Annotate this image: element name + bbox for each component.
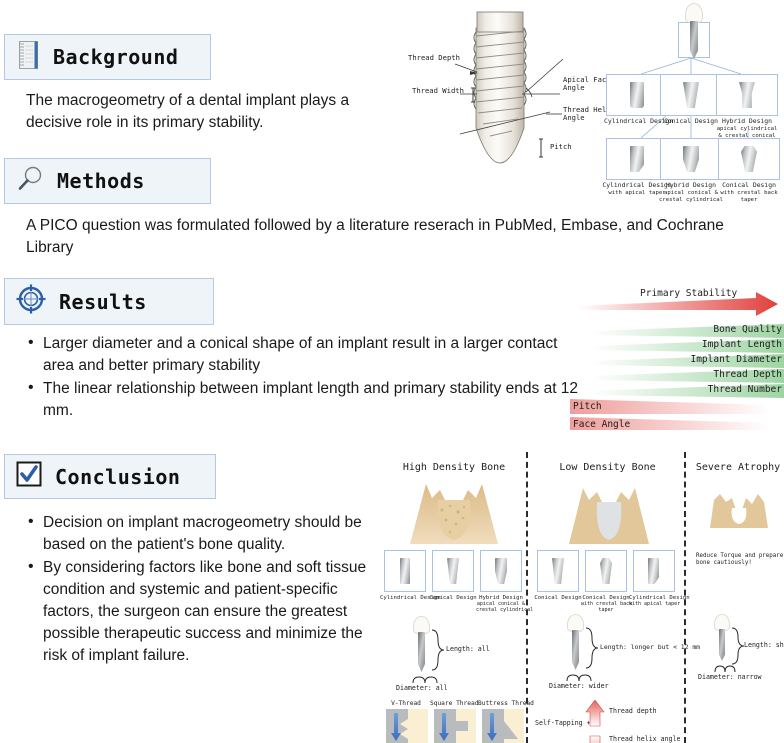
- section-body-background: The macrogeometry of a dental implant pl…: [26, 90, 404, 134]
- design-sublabel: with crestal back taper: [581, 602, 631, 614]
- section-body-results: Larger diameter and a conical shape of a…: [26, 333, 591, 423]
- bar-label: Implant Diameter: [690, 354, 782, 365]
- column-title: Low Density Bone: [535, 462, 680, 473]
- chart-bars-labels: Bone Quality Implant Length Implant Diam…: [570, 288, 784, 430]
- bar-label: Bone Quality: [713, 324, 782, 335]
- thread-type-label: Buttress Thread: [478, 700, 524, 707]
- implant-anatomy-diagram: Thread Depth Thread Width Apical Face An…: [400, 2, 600, 200]
- bone-column-low-density: Low Density Bone Conical Design Conical …: [535, 462, 680, 743]
- design-sublabel: apical conical & crestal cylindrical: [476, 602, 526, 614]
- bone-column-high-density: High Density Bone Cylindrical Design Con…: [384, 462, 524, 743]
- bar-label: Thread Depth: [713, 369, 782, 380]
- design-sublabel: with apical taper: [629, 602, 679, 608]
- diameter-label: Diameter: wider: [549, 683, 609, 691]
- crosshair-icon: [15, 283, 47, 320]
- crown-icon: [685, 3, 703, 23]
- thread-type-label: Square Thread: [430, 700, 476, 707]
- magnifier-icon: [15, 164, 45, 199]
- length-label: Length: longer but < 12 mm: [600, 644, 700, 652]
- tree-label: Conical Design: [714, 182, 784, 190]
- bar-label: Thread Number: [708, 384, 782, 395]
- implant-icon: [719, 629, 725, 661]
- section-body-methods: A PICO question was formulated followed …: [26, 215, 766, 259]
- implant-shape-cylindrical: [630, 82, 644, 108]
- diameter-label: Diameter: narrow: [698, 674, 762, 682]
- design-label: Conical Design: [533, 595, 583, 602]
- section-header-conclusion: Conclusion: [4, 454, 216, 499]
- bar-label: Pitch: [573, 401, 602, 412]
- section-title-methods: Methods: [57, 169, 145, 193]
- design-label: Conical Design: [428, 595, 478, 602]
- arrow-label-thread-depth: Thread depth: [609, 708, 657, 716]
- column-title: High Density Bone: [384, 462, 524, 473]
- results-bullet: Larger diameter and a conical shape of a…: [26, 333, 591, 377]
- column-title: Severe Atrophy: [692, 462, 784, 473]
- section-header-methods: Methods: [4, 158, 211, 204]
- length-label: Length: short: [744, 642, 784, 650]
- background-paragraph: The macrogeometry of a dental implant pl…: [26, 90, 404, 134]
- diameter-label: Diameter: all: [396, 685, 448, 693]
- thread-type-label: V-Thread: [384, 700, 428, 707]
- notebook-icon: [15, 39, 41, 76]
- implant-icon: [418, 632, 425, 672]
- section-title-results: Results: [59, 290, 147, 314]
- conclusion-bullet: Decision on implant macrogeometry should…: [26, 512, 381, 556]
- section-header-results: Results: [4, 278, 214, 325]
- length-label: Length: all: [446, 646, 490, 654]
- tree-sublabel: with crestal back taper: [714, 190, 784, 203]
- bar-label: Implant Length: [702, 339, 782, 350]
- implant-shape-cylindrical: [400, 558, 410, 584]
- results-bullet: The linear relationship between implant …: [26, 378, 591, 422]
- arrow-label-thread-helix-angle: Thread helix angle: [609, 736, 680, 743]
- conclusion-bullet: By considering factors like bone and sof…: [26, 557, 381, 667]
- bar-label: Face Angle: [573, 419, 630, 430]
- methods-paragraph: A PICO question was formulated followed …: [26, 215, 766, 259]
- tree-label: Hybrid Design: [714, 118, 780, 126]
- label-thread-depth: Thread Depth: [408, 54, 460, 62]
- design-label: Cylindrical Design: [380, 595, 430, 602]
- section-title-background: Background: [53, 45, 178, 69]
- section-title-conclusion: Conclusion: [55, 465, 180, 489]
- bone-column-severe-atrophy: Severe Atrophy Reduce Torque and prepare…: [692, 462, 784, 743]
- section-header-background: Background: [4, 34, 211, 80]
- section-body-conclusion: Decision on implant macrogeometry should…: [26, 512, 381, 668]
- design-tree: Cylindrical Design Conical Design Hybrid…: [596, 0, 784, 196]
- primary-stability-chart: Primary Stability: [570, 288, 784, 430]
- label-thread-width: Thread Width: [412, 87, 464, 95]
- atrophy-note: Reduce Torque and prepare bone cautiousl…: [696, 553, 783, 567]
- label-pitch: Pitch: [550, 143, 572, 151]
- implant-icon: [572, 630, 579, 670]
- checkbox-icon: [15, 460, 43, 493]
